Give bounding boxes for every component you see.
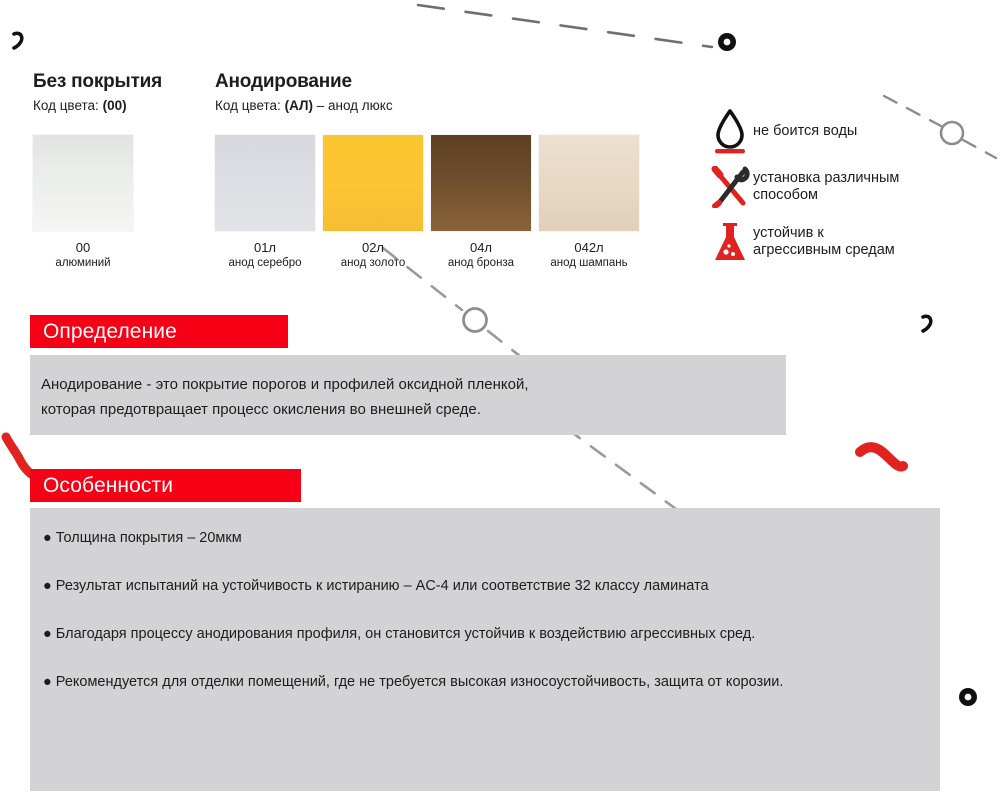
feature-text-line2: агрессивным средам (753, 242, 895, 259)
bullet-item: ● Рекомендуется для отделки помещений, г… (43, 669, 918, 695)
swatch-item[interactable]: 04л анод бронза (431, 135, 531, 271)
group-code: Код цвета: (00) (33, 97, 162, 114)
swatch-silver[interactable] (215, 135, 315, 231)
swatch-bronze[interactable] (431, 135, 531, 231)
swatch-item[interactable]: 042л анод шампань (539, 135, 639, 271)
comma-mark-top-left (14, 33, 22, 48)
swatch-champagne[interactable] (539, 135, 639, 231)
group-title: Анодирование (215, 70, 639, 94)
dashed-line-center-tail (566, 428, 676, 509)
swatch-name: анод бронза (431, 256, 531, 271)
feature-text: не боится воды (753, 123, 857, 140)
definition-line-1: Анодирование - это покрытие порогов и пр… (41, 372, 766, 397)
feature-text-line1: устойчив к (753, 225, 895, 242)
comma-mark-right (923, 316, 931, 331)
section-header-definition: Определение (30, 315, 288, 348)
ring-top-right (718, 33, 736, 51)
features-bullet-list: ● Толщина покрытия – 20мкм ● Результат и… (30, 508, 940, 695)
swatch-code: 02л (323, 240, 423, 256)
group-code-label: Код цвета: (33, 98, 99, 113)
definition-line-2: которая предотвращает процесс окисления … (41, 397, 766, 422)
group-code-suffix: – анод люкс (313, 98, 393, 113)
group-code-label: Код цвета: (215, 98, 281, 113)
swatch-code: 042л (539, 240, 639, 256)
swatch-name: анод шампань (539, 256, 639, 271)
bullet-item: ● Толщина покрытия – 20мкм (43, 525, 918, 551)
swatch-item[interactable]: 02л анод золото (323, 135, 423, 271)
feature-item-installation: установка различным способом (707, 166, 997, 208)
group-title: Без покрытия (33, 70, 162, 94)
feature-text: устойчив к агрессивным средам (753, 225, 895, 259)
features-panel: ● Толщина покрытия – 20мкм ● Результат и… (30, 508, 940, 791)
bullet-item: ● Благодаря процессу анодирования профил… (43, 621, 918, 647)
swatch-caption: 04л анод бронза (431, 240, 531, 271)
red-squiggle-left (6, 437, 31, 474)
feature-text-line1: не боится воды (753, 123, 857, 140)
swatch-caption: 02л анод золото (323, 240, 423, 271)
swatch-caption: 01л анод серебро (215, 240, 315, 271)
swatch-row: 00 алюминий (33, 135, 162, 271)
feature-text-line1: установка различным (753, 170, 899, 187)
feature-item-water: не боится воды (707, 108, 997, 154)
swatch-caption: 00 алюминий (33, 240, 133, 271)
swatch-code: 01л (215, 240, 315, 256)
swatch-row: 01л анод серебро 02л анод золото 04л ано… (215, 135, 639, 271)
definition-text: Анодирование - это покрытие порогов и пр… (30, 355, 786, 422)
group-code: Код цвета: (АЛ) – анод люкс (215, 97, 639, 114)
swatch-gold[interactable] (323, 135, 423, 231)
feature-text-line2: способом (753, 187, 899, 204)
circle-outline-center (464, 309, 487, 332)
swatch-group-uncoated: Без покрытия Код цвета: (00) 00 алюминий (33, 70, 162, 271)
swatch-item[interactable]: 00 алюминий (33, 135, 133, 271)
dashed-line-top (418, 5, 712, 47)
swatch-group-anodized: Анодирование Код цвета: (АЛ) – анод люкс… (215, 70, 639, 271)
crossed-tools-icon (707, 166, 753, 208)
swatch-name: анод золото (323, 256, 423, 271)
swatch-item[interactable]: 01л анод серебро (215, 135, 315, 271)
group-code-value: (00) (103, 98, 127, 113)
definition-panel: Анодирование - это покрытие порогов и пр… (30, 355, 786, 435)
feature-text: установка различным способом (753, 170, 899, 204)
group-code-value: (АЛ) (285, 98, 313, 113)
section-header-features: Особенности (30, 469, 301, 502)
bullet-item: ● Результат испытаний на устойчивость к … (43, 573, 918, 599)
ring-bottom-right (959, 688, 977, 706)
flask-icon (707, 220, 753, 264)
red-squiggle-right (860, 447, 903, 466)
swatch-code: 04л (431, 240, 531, 256)
swatch-code: 00 (33, 240, 133, 256)
feature-list: не боится воды установка различным спосо… (707, 108, 997, 276)
swatch-name: анод серебро (215, 256, 315, 271)
water-drop-icon (707, 108, 753, 154)
infographic-page: Без покрытия Код цвета: (00) 00 алюминий… (0, 0, 1000, 800)
feature-item-chemical: устойчив к агрессивным средам (707, 220, 997, 264)
swatch-caption: 042л анод шампань (539, 240, 639, 271)
swatch-aluminium[interactable] (33, 135, 133, 231)
swatch-name: алюминий (33, 256, 133, 271)
